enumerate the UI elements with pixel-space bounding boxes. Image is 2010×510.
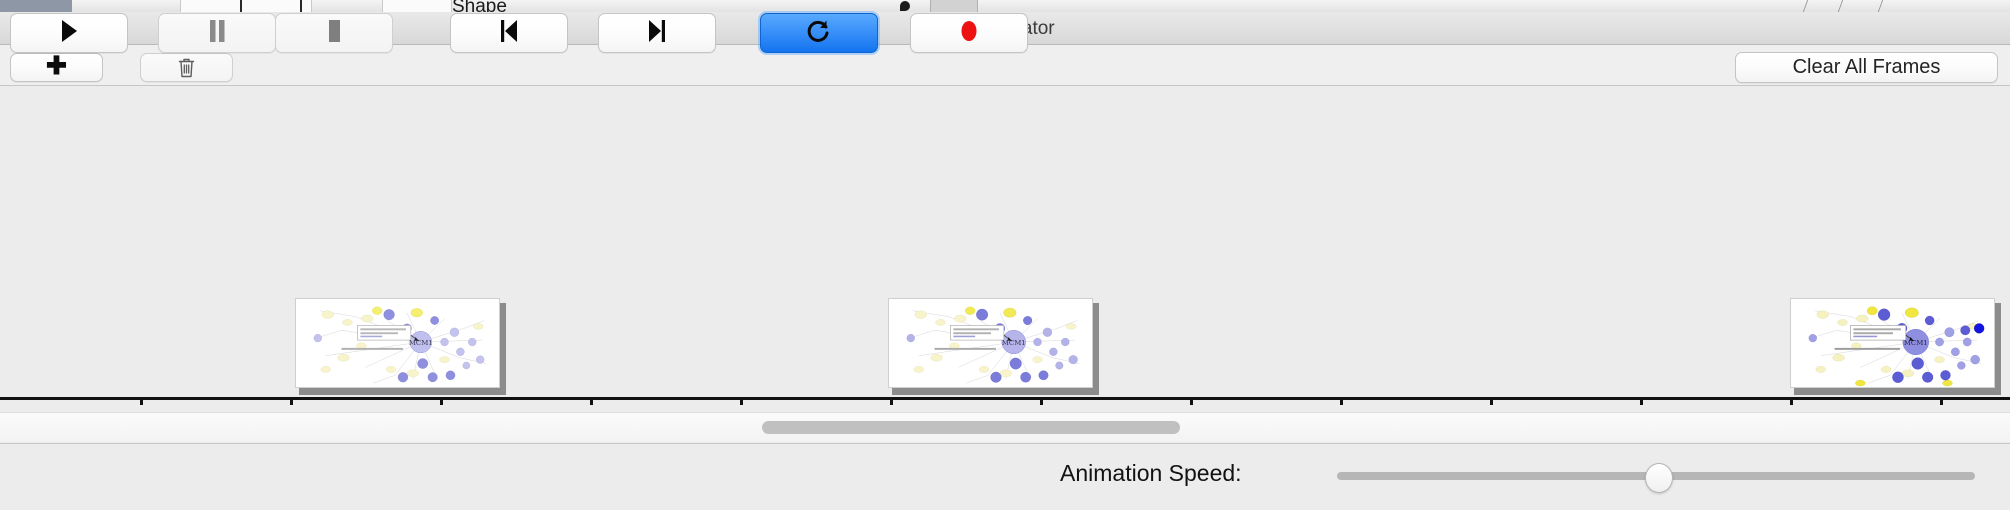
axis-tick-major [1190,400,1193,405]
svg-text:MCM1: MCM1 [1002,339,1026,347]
frame-thumbnail[interactable]: MCM1 [888,298,1099,393]
skip-start-icon [497,18,521,49]
axis-tick-minor [140,400,143,405]
svg-text:MCM1: MCM1 [1904,339,1928,347]
animation-speed-label: Animation Speed: [1060,460,1242,487]
stop-button[interactable] [275,13,393,53]
axis-tick-minor [1340,400,1343,405]
skip-end-button[interactable] [598,13,716,53]
background-window-segment [180,0,312,12]
timeline-axis-line [0,397,2010,400]
background-window-titlebar-fragment [0,0,72,12]
background-window-divider [1803,0,1808,12]
network-preview-pale: MCM1 [296,299,499,387]
record-icon [957,18,981,49]
frame-image: MCM1 [1790,298,1995,388]
frame-thumbnail[interactable]: MCM1 [295,298,506,393]
cyanimator-window: Shape CyAnimator ✚ Clear A [0,0,2010,510]
animation-speed-slider-knob[interactable] [1645,463,1673,493]
axis-tick-major [890,400,893,405]
axis-tick-minor [1040,400,1043,405]
svg-text:MCM1: MCM1 [409,339,433,347]
frame-image: MCM1 [888,298,1093,388]
background-window-divider [1838,0,1843,12]
axis-tick-major [1790,400,1793,405]
axis-tick-minor [1640,400,1643,405]
plus-icon: ✚ [46,54,67,79]
skip-end-icon [645,18,669,49]
background-window-segment [930,0,978,12]
frame-image: MCM1 [295,298,500,388]
record-button[interactable] [910,13,1028,53]
play-icon [58,18,80,49]
loop-button[interactable] [760,13,878,53]
play-button[interactable] [10,13,128,53]
loop-icon [806,17,832,50]
clear-all-frames-label: Clear All Frames [1793,56,1941,79]
add-frame-button[interactable]: ✚ [10,53,103,82]
timeline-scrollbar-thumb[interactable] [762,421,1180,434]
background-window-mark [240,0,242,12]
skip-start-button[interactable] [450,13,568,53]
network-preview-bright: MCM1 [1791,299,1994,387]
axis-tick-major [590,400,593,405]
axis-tick-major [1490,400,1493,405]
axis-tick-minor [1940,400,1943,405]
background-window-divider [1878,0,1883,12]
pause-button[interactable] [158,13,276,53]
stop-icon [323,18,345,49]
background-window-cursor [900,1,910,11]
frame-thumbnail[interactable]: MCM1 [1790,298,2001,393]
trash-icon [177,57,196,78]
axis-tick-major [290,400,293,405]
network-preview-medium: MCM1 [889,299,1092,387]
pause-icon [206,18,228,49]
axis-tick-minor [740,400,743,405]
background-window-segment [382,0,452,12]
axis-tick-minor [440,400,443,405]
delete-frame-button[interactable] [140,53,233,82]
background-window-mark [300,0,302,12]
timeline-panel[interactable]: MCM1 [0,86,2010,405]
clear-all-frames-button[interactable]: Clear All Frames [1735,52,1998,83]
